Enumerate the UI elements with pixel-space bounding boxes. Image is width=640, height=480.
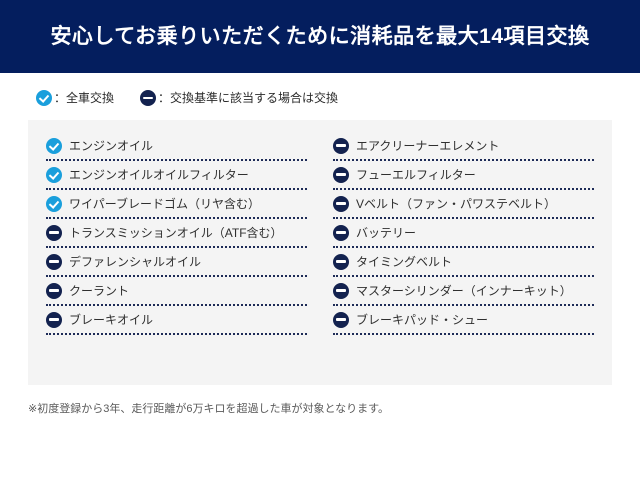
list-item-label: エンジンオイル [69, 140, 153, 152]
list-item-label: エンジンオイルオイルフィルター [69, 169, 249, 181]
items-grid: エンジンオイル エンジンオイルオイルフィルター ワイパーブレードゴム（リヤ含む）… [46, 132, 594, 335]
list-item: クーラント [46, 277, 307, 306]
check-circle-icon [36, 90, 52, 106]
list-item-label: フューエルフィルター [356, 169, 476, 181]
minus-circle-icon [140, 90, 156, 106]
list-item: エンジンオイルオイルフィルター [46, 161, 307, 190]
items-column-right: エアクリーナーエレメント フューエルフィルター Vベルト（ファン・パワステベルト… [333, 132, 594, 335]
list-item: バッテリー [333, 219, 594, 248]
legend-entry-all-vehicles: ：全車交換 [36, 90, 114, 106]
list-item: デファレンシャルオイル [46, 248, 307, 277]
minus-circle-icon [333, 312, 349, 328]
legend-label-conditional: ：交換基準に該当する場合は交換 [158, 92, 338, 104]
list-item-label: デファレンシャルオイル [69, 256, 201, 268]
consumables-replacement-infographic: 安心してお乗りいただくために消耗品を最大14項目交換 ：全車交換 ：交換基準に該… [0, 0, 640, 480]
list-item: エアクリーナーエレメント [333, 132, 594, 161]
legend: ：全車交換 ：交換基準に該当する場合は交換 [0, 73, 640, 106]
check-circle-icon [46, 138, 62, 154]
list-item-label: ブレーキパッド・シュー [356, 314, 488, 326]
list-item-label: タイミングベルト [356, 256, 452, 268]
minus-circle-icon [46, 312, 62, 328]
list-item-label: エアクリーナーエレメント [356, 140, 499, 152]
list-item-label: ワイパーブレードゴム（リヤ含む） [69, 198, 260, 210]
list-item-label: マスターシリンダー（インナーキット） [356, 285, 572, 297]
minus-circle-icon [333, 283, 349, 299]
minus-circle-icon [333, 225, 349, 241]
check-circle-icon [46, 196, 62, 212]
list-item: ブレーキパッド・シュー [333, 306, 594, 335]
list-item: トランスミッションオイル（ATF含む） [46, 219, 307, 248]
list-item: タイミングベルト [333, 248, 594, 277]
list-item: エンジンオイル [46, 132, 307, 161]
list-item-label: ブレーキオイル [69, 314, 153, 326]
legend-label-all-vehicles: ：全車交換 [54, 92, 114, 104]
items-panel: エンジンオイル エンジンオイルオイルフィルター ワイパーブレードゴム（リヤ含む）… [28, 120, 612, 385]
minus-circle-icon [333, 167, 349, 183]
list-item: Vベルト（ファン・パワステベルト） [333, 190, 594, 219]
list-item-label: バッテリー [356, 227, 416, 239]
list-item: フューエルフィルター [333, 161, 594, 190]
check-circle-icon [46, 167, 62, 183]
list-item-label: クーラント [69, 285, 129, 297]
minus-circle-icon [46, 283, 62, 299]
items-column-left: エンジンオイル エンジンオイルオイルフィルター ワイパーブレードゴム（リヤ含む）… [46, 132, 307, 335]
list-item: ワイパーブレードゴム（リヤ含む） [46, 190, 307, 219]
legend-entry-conditional: ：交換基準に該当する場合は交換 [140, 90, 338, 106]
minus-circle-icon [46, 225, 62, 241]
minus-circle-icon [333, 138, 349, 154]
list-item: マスターシリンダー（インナーキット） [333, 277, 594, 306]
footnote: ※初度登録から3年、走行距離が6万キロを超過した車が対象となります。 [28, 402, 640, 416]
minus-circle-icon [333, 254, 349, 270]
minus-circle-icon [46, 254, 62, 270]
list-item-label: トランスミッションオイル（ATF含む） [69, 227, 283, 239]
header-bar: 安心してお乗りいただくために消耗品を最大14項目交換 [0, 0, 640, 73]
list-item-label: Vベルト（ファン・パワステベルト） [356, 198, 556, 210]
list-item: ブレーキオイル [46, 306, 307, 335]
page-title: 安心してお乗りいただくために消耗品を最大14項目交換 [50, 24, 589, 49]
minus-circle-icon [333, 196, 349, 212]
